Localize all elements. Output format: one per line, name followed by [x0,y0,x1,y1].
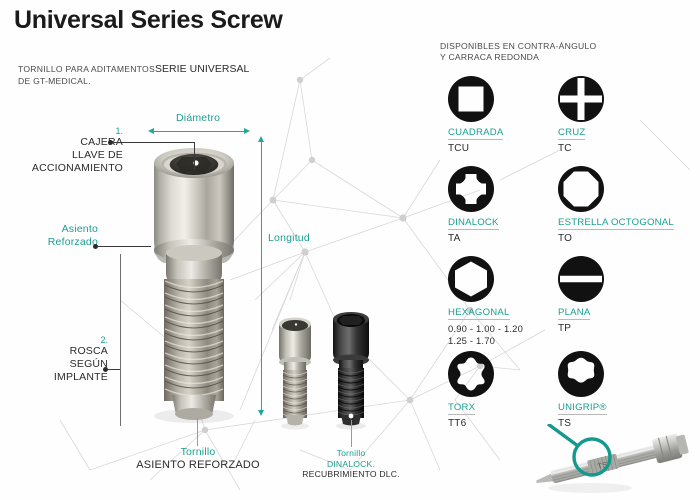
caption-main-screw: Tornillo ASIENTO REFORZADO [118,446,278,472]
callout-cajera-line1: CAJERA [8,136,123,149]
drive-option-unigrip[interactable]: UNIGRIP® TS [558,351,658,430]
screwdriver-tool-illustration: TS [530,424,700,500]
callout-rosca-leader-line [107,369,120,370]
caption-dinalock-line3: RECUBRIMIENTO DLC. [294,469,408,480]
drive-option-plana[interactable]: PLANA TP [558,256,658,335]
callout-cajera-leader-drop [194,142,195,170]
drive-estrella-name: ESTRELLA OCTOGONAL [558,217,674,230]
drive-hexagonal-code2: 1.25 - 1.70 [448,335,558,347]
length-arrow-up-icon [258,136,264,142]
diameter-arrow-right-icon [244,128,250,134]
length-dimension-line [261,141,262,414]
square-drive-icon [448,76,494,122]
callout-rosca-number: 2. [8,335,108,345]
intro-serie: SERIE UNIVERSAL [155,64,249,75]
right-panel-heading-line2: Y CARRACA REDONDA [440,52,596,63]
drive-option-estrella-octogonal[interactable]: ESTRELLA OCTOGONAL TO [558,166,683,245]
drive-estrella-code: TO [558,233,683,245]
intro-line1: TORNILLO PARA ADITAMENTOS [18,64,155,74]
callout-asiento-line2: Reforzado [8,236,98,249]
drive-cuadrada-code: TCU [448,143,548,155]
callout-cajera-leader-line [112,142,194,143]
hexagonal-drive-icon [448,256,494,302]
torx-drive-icon [448,351,494,397]
drive-cruz-code: TC [558,143,658,155]
caption-main-screw-line1: Tornillo [118,446,278,459]
caption-main-screw-line2: ASIENTO REFORZADO [118,459,278,472]
drive-dinalock-name: DINALOCK [448,217,499,230]
callout-cajera: 1. CAJERA LLAVE DE ACCIONAMIENTO [8,126,123,175]
unigrip-highlight-pointer-line [548,424,578,446]
callout-cajera-line3: ACCIONAMIENTO [8,162,123,175]
drive-option-torx[interactable]: TORX TT6 [448,351,548,430]
right-panel-heading: DISPONIBLES EN CONTRA-ÁNGULO Y CARRACA R… [440,41,596,63]
drive-option-cruz[interactable]: CRUZ TC [558,76,658,155]
diameter-label: Diámetro [176,112,220,124]
drive-option-dinalock[interactable]: DINALOCK TA [448,166,548,245]
unigrip-drive-icon [558,351,604,397]
main-screw-illustration [138,133,250,423]
drive-unigrip-name: UNIGRIP® [558,402,607,415]
caption-dinalock-screw: Tornillo DINALOCK. RECUBRIMIENTO DLC. [294,448,408,480]
dinalock-dlc-screw-illustration [326,306,376,430]
caption-dinalock-leader [351,420,352,447]
right-panel-heading-line1: DISPONIBLES EN CONTRA-ÁNGULO [440,41,596,52]
intro-caption: TORNILLO PARA ADITAMENTOSSERIE UNIVERSAL… [18,64,278,87]
diameter-arrow-left-icon [148,128,154,134]
caption-dinalock-line1: Tornillo [294,448,408,459]
drive-hexagonal-code: 0.90 - 1.00 - 1.20 [448,323,558,335]
callout-rosca-line3: IMPLANTE [8,371,108,384]
drive-plana-code: TP [558,323,658,335]
callout-asiento-leader-line [97,246,151,247]
callout-asiento-reforzado: Asiento Reforzado [8,223,98,249]
octagonal-star-drive-icon [558,166,604,212]
drive-option-hexagonal[interactable]: HEXAGONAL 0.90 - 1.00 - 1.20 1.25 - 1.70 [448,256,558,346]
caption-dinalock-line2: DINALOCK. [294,459,408,470]
callout-rosca: 2. ROSCA SEGÚN IMPLANTE [8,335,108,384]
length-arrow-down-icon [258,410,264,416]
intro-line2: DE GT-MEDICAL. [18,76,91,86]
poster-canvas: Universal Series Screw TORNILLO PARA ADI… [0,0,700,500]
drive-torx-name: TORX [448,402,475,415]
cross-drive-icon [558,76,604,122]
drive-dinalock-code: TA [448,233,548,245]
drive-plana-name: PLANA [558,307,590,320]
drive-cuadrada-name: CUADRADA [448,127,503,140]
drive-option-cuadrada[interactable]: CUADRADA TCU [448,76,548,155]
drive-hexagonal-name: HEXAGONAL [448,307,510,320]
callout-cajera-number: 1. [8,126,123,136]
callout-cajera-line2: LLAVE DE [8,149,123,162]
page-title: Universal Series Screw [14,6,283,35]
length-label: Longitud [268,232,310,244]
dinalock-drive-icon [448,166,494,212]
callout-rosca-line2: SEGÚN [8,358,108,371]
caption-main-screw-leader [197,418,198,446]
small-silver-screw-illustration [272,312,318,430]
flat-slot-drive-icon [558,256,604,302]
diameter-dimension-line [154,131,247,132]
callout-rosca-bracket-rule [120,254,121,426]
drive-cruz-name: CRUZ [558,127,585,140]
callout-asiento-line1: Asiento [8,223,98,236]
callout-rosca-line1: ROSCA [8,345,108,358]
